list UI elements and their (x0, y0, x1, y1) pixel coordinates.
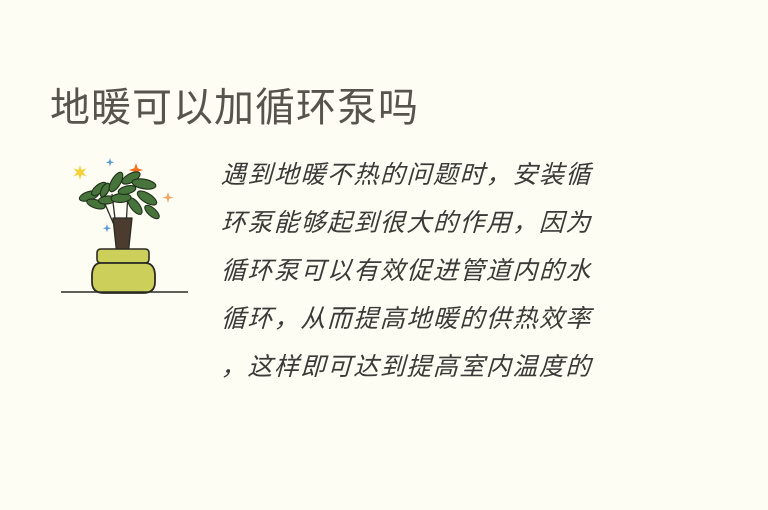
page-title: 地暖可以加循环泵吗 (50, 83, 419, 133)
body-line: 遇到地暖不热的问题时，安装循 (220, 152, 646, 200)
article-page: 地暖可以加循环泵吗 (0, 0, 768, 510)
orange-sparkle-right-icon (163, 192, 174, 203)
body-line: 环泵能够起到很大的作用，因为 (220, 200, 646, 248)
article-body: 遇到地暖不热的问题时，安装循 环泵能够起到很大的作用，因为 循环泵可以有效促进管… (221, 152, 645, 392)
blue-sparkle-bottom-icon (103, 224, 111, 232)
blue-sparkle-top-icon (106, 158, 114, 166)
body-line: 循环泵可以有效促进管道内的水 (220, 248, 646, 296)
potted-plant-illustration (55, 148, 195, 298)
body-line: ，这样即可达到提高室内温度的 (220, 344, 646, 392)
yellow-sparkle-icon (74, 165, 87, 180)
body-line: 循环，从而提高地暖的供热效率 (220, 296, 646, 344)
flower-pot (92, 249, 155, 293)
